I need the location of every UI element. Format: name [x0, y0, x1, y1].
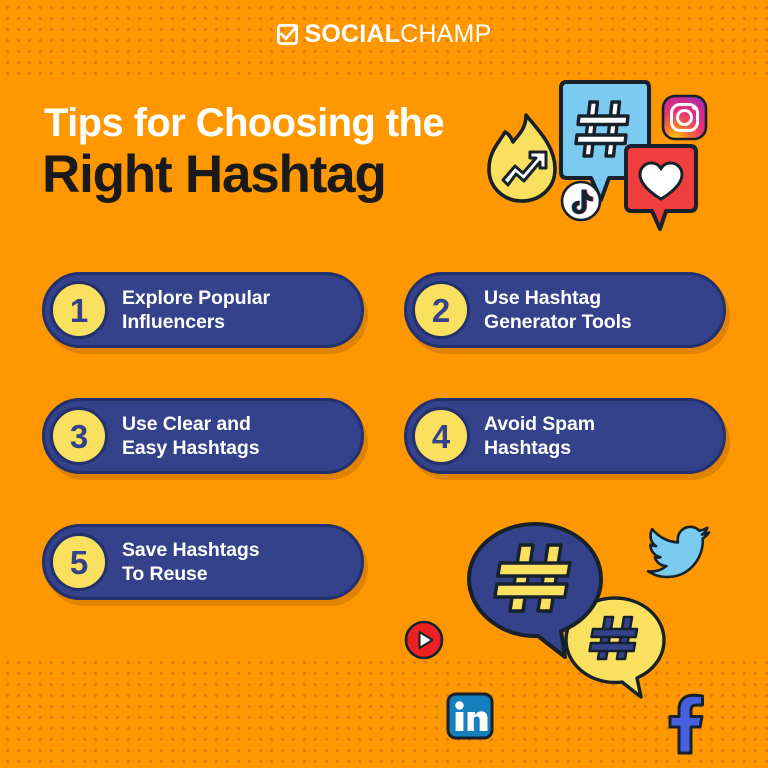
tip-number-badge: 2: [412, 281, 470, 339]
tip-label-line2: Easy Hashtags: [122, 436, 259, 460]
tip-label-line1: Save Hashtags: [122, 538, 259, 562]
page-title-line2: Right Hashtag: [42, 148, 386, 201]
tip-label-line2: Generator Tools: [484, 310, 632, 334]
infographic-canvas: SOCIALCHAMP Tips for Choosing the Right …: [0, 0, 768, 768]
tip-label: Explore Popular Influencers: [122, 286, 270, 334]
tip-label: Avoid Spam Hashtags: [484, 412, 595, 460]
tip-label-line1: Use Hashtag: [484, 286, 632, 310]
tip-label: Use Hashtag Generator Tools: [484, 286, 632, 334]
tip-number-badge: 3: [50, 407, 108, 465]
tip-item-1[interactable]: 1 Explore Popular Influencers: [42, 272, 364, 348]
twitter-icon: [650, 525, 712, 577]
brand-logo-light: CHAMP: [400, 20, 491, 48]
tip-label-line1: Avoid Spam: [484, 412, 595, 436]
tip-number-badge: 1: [50, 281, 108, 339]
brand-logo: SOCIALCHAMP: [0, 22, 768, 47]
brand-logo-text: SOCIALCHAMP: [305, 22, 492, 47]
tip-number-badge: 5: [50, 533, 108, 591]
brand-logo-bold: SOCIAL: [305, 20, 401, 48]
tip-number-badge: 4: [412, 407, 470, 465]
heart-speech-bubble-red-icon: [622, 143, 700, 233]
tiktok-icon: [560, 180, 602, 222]
tip-label-line2: Hashtags: [484, 436, 595, 460]
page-title-line1: Tips for Choosing the: [44, 103, 444, 143]
tip-item-3[interactable]: 3 Use Clear and Easy Hashtags: [42, 398, 364, 474]
linkedin-icon: [446, 692, 494, 740]
tip-label: Save Hashtags To Reuse: [122, 538, 259, 586]
tip-label-line1: Explore Popular: [122, 286, 270, 310]
tip-label-line2: To Reuse: [122, 562, 259, 586]
tip-label-line2: Influencers: [122, 310, 270, 334]
hashtag-speech-bubble-navy-icon: [466, 521, 604, 663]
trending-flame-icon: [486, 112, 558, 204]
tip-item-4[interactable]: 4 Avoid Spam Hashtags: [404, 398, 726, 474]
facebook-icon: [665, 694, 709, 756]
youtube-icon: [404, 620, 444, 660]
tip-label-line1: Use Clear and: [122, 412, 259, 436]
tip-label: Use Clear and Easy Hashtags: [122, 412, 259, 460]
instagram-icon: [661, 94, 708, 141]
checkbox-check-icon: [277, 24, 298, 45]
tip-item-2[interactable]: 2 Use Hashtag Generator Tools: [404, 272, 726, 348]
tip-item-5[interactable]: 5 Save Hashtags To Reuse: [42, 524, 364, 600]
